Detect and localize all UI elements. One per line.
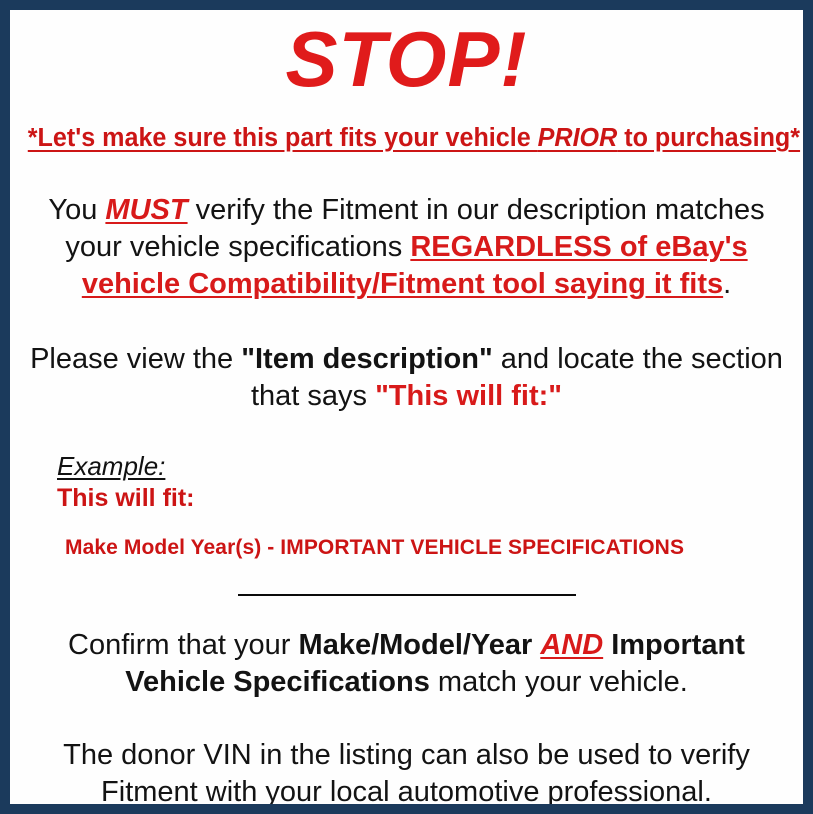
must-verify-paragraph: You MUST verify the Fitment in our descr… <box>27 152 787 303</box>
confirm-paragraph-segment-1: Confirm that your <box>68 629 298 661</box>
example-spec-line: Make Model Year(s) - IMPORTANT VEHICLE S… <box>57 513 791 560</box>
make-model-year-label: Make/Model/Year <box>299 629 533 661</box>
item-description-label: "Item description" <box>241 343 492 375</box>
confirm-paragraph-segment-5: match your vehicle. <box>430 666 688 698</box>
subtitle-banner: *Let's make sure this part fits your veh… <box>28 98 785 152</box>
confirm-paragraph: Confirm that your Make/Model/Year AND Im… <box>27 605 787 701</box>
please-view-paragraph: Please view the "Item description" and l… <box>27 303 787 415</box>
subtitle-lead-text: *Let's make sure this part fits your veh… <box>28 124 538 152</box>
subtitle-prior-emphasis: PRIOR <box>538 124 618 152</box>
this-will-fit-quote: "This will fit:" <box>375 380 562 412</box>
must-paragraph-period: . <box>723 268 731 300</box>
example-fit-heading: This will fit: <box>57 481 791 513</box>
and-keyword: AND <box>540 629 603 661</box>
example-label: Example: <box>57 452 165 482</box>
example-label-row: Example: <box>57 452 791 482</box>
subtitle-tail-text: to purchasing* <box>617 124 800 152</box>
fitment-notice-card: STOP! *Let's make sure this part fits yo… <box>0 0 813 814</box>
notice-content: STOP! *Let's make sure this part fits yo… <box>10 10 803 804</box>
example-block: Example: This will fit: Make Model Year(… <box>22 416 791 561</box>
must-paragraph-segment-1: You <box>48 194 105 226</box>
please-paragraph-segment-1: Please view the <box>30 343 241 375</box>
divider-row <box>22 561 791 605</box>
donor-vin-paragraph: The donor VIN in the listing can also be… <box>27 701 787 811</box>
must-keyword: MUST <box>105 194 187 226</box>
horizontal-rule-icon <box>238 594 576 596</box>
page-title: STOP! <box>22 10 791 98</box>
